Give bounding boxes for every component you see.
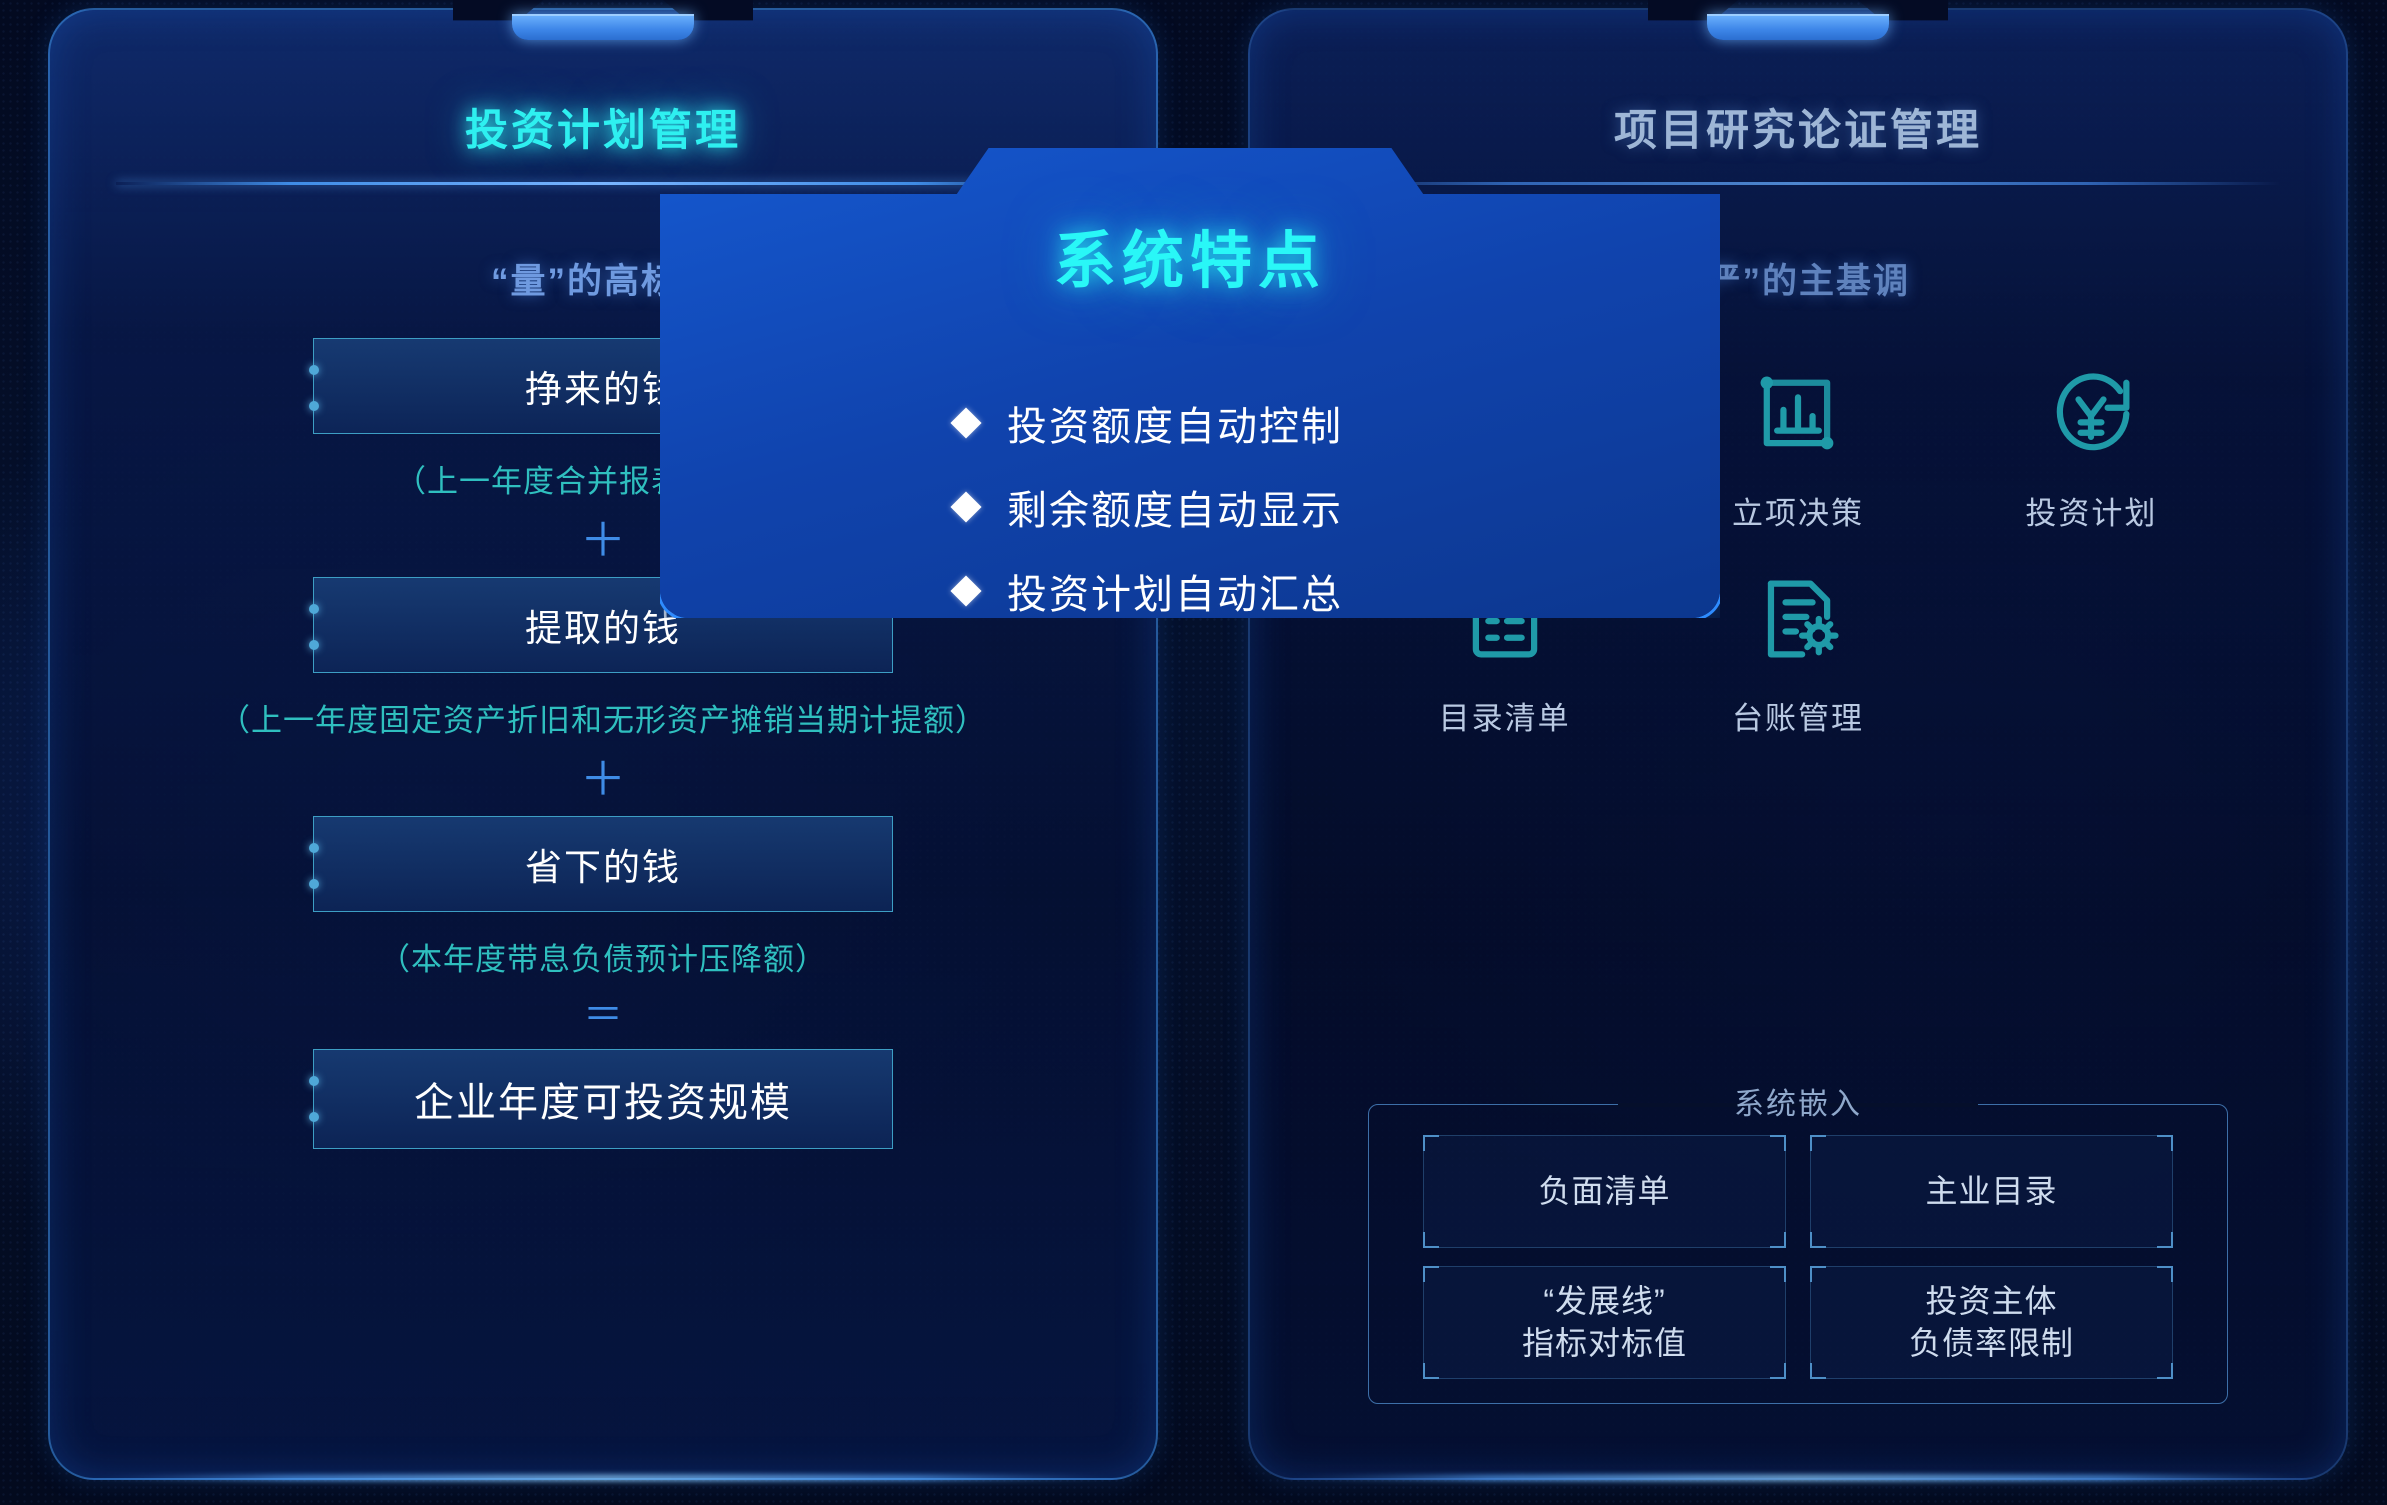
embed-item-investor-debt-ratio-limit[interactable]: 投资主体 负债率限制 — [1810, 1266, 2173, 1379]
corner-bracket-icon — [1423, 1266, 1439, 1282]
module-item-investment-plan[interactable]: 投资计划 — [1971, 362, 2211, 533]
formula-box-result[interactable]: 企业年度可投资规模 — [313, 1049, 893, 1149]
corner-bracket-icon — [1770, 1232, 1786, 1248]
embed-item-negative-list[interactable]: 负面清单 — [1423, 1135, 1786, 1248]
formula-box-saved[interactable]: 省下的钱 — [313, 816, 893, 912]
corner-bracket-icon — [1423, 1232, 1439, 1248]
corner-bracket-icon — [2157, 1232, 2173, 1248]
corner-bracket-icon — [1810, 1232, 1826, 1248]
embed-item-main-business-catalog[interactable]: 主业目录 — [1810, 1135, 2173, 1248]
corner-bracket-icon — [1423, 1363, 1439, 1379]
system-features-card[interactable]: 系统特点 投资额度自动控制 剩余额度自动显示 投资计划自动汇总 — [660, 148, 1720, 618]
module-item-label: 台账管理 — [1732, 693, 1864, 738]
box-dot-icon — [309, 365, 319, 375]
corner-bracket-icon — [1423, 1135, 1439, 1151]
corner-bracket-icon — [2157, 1266, 2173, 1282]
card-content: 系统特点 投资额度自动控制 剩余额度自动显示 投资计划自动汇总 — [660, 148, 1720, 618]
diamond-bullet-icon — [950, 491, 981, 522]
panel-top-handle — [512, 14, 694, 40]
box-dot-icon — [309, 640, 319, 650]
formula-box-label: 提取的钱 — [525, 598, 681, 652]
formula-caption: （上一年度固定资产折旧和无形资产摊销当期计提额） — [219, 695, 987, 740]
diamond-bullet-icon — [950, 575, 981, 606]
embed-item-development-line-benchmark[interactable]: “发展线” 指标对标值 — [1423, 1266, 1786, 1379]
corner-bracket-icon — [1810, 1266, 1826, 1282]
module-item-label: 投资计划 — [2025, 488, 2157, 533]
box-edge — [1423, 1135, 1786, 1248]
formula-operator-equals: ＝ — [583, 995, 623, 1035]
diamond-bullet-icon — [950, 407, 981, 438]
corner-bracket-icon — [1810, 1135, 1826, 1151]
formula-operator-plus: ＋ — [580, 517, 626, 563]
box-dot-icon — [309, 879, 319, 889]
module-item-label: 目录清单 — [1439, 693, 1571, 738]
fieldset-grid: 负面清单 主业目录 “发展线” 指标对标值 — [1423, 1135, 2173, 1379]
panel-top-handle — [1707, 14, 1889, 40]
box-dot-icon — [309, 1112, 319, 1122]
corner-bracket-icon — [2157, 1363, 2173, 1379]
right-panel-title: 项目研究论证管理 — [1250, 96, 2346, 158]
module-item-label: 立项决策 — [1732, 488, 1864, 533]
right-panel-divider — [1316, 182, 2280, 185]
box-dot-icon — [309, 843, 319, 853]
card-bullet-item: 投资计划自动汇总 — [955, 562, 1425, 620]
box-dot-icon — [309, 1076, 319, 1086]
card-bullet-item: 投资额度自动控制 — [955, 394, 1425, 452]
formula-box-label: 省下的钱 — [525, 837, 681, 891]
corner-bracket-icon — [1810, 1363, 1826, 1379]
fieldset-legend: 系统嵌入 — [1708, 1079, 1888, 1123]
corner-bracket-icon — [1770, 1266, 1786, 1282]
box-dot-icon — [309, 604, 319, 614]
formula-box-label: 挣来的钱 — [525, 359, 681, 413]
document-gear-icon — [1746, 567, 1850, 671]
system-embedding-fieldset: 系统嵌入 负面清单 主业目录 — [1368, 1104, 2228, 1404]
card-bullet-label: 投资额度自动控制 — [1007, 394, 1343, 452]
corner-bracket-icon — [2157, 1135, 2173, 1151]
corner-bracket-icon — [1770, 1363, 1786, 1379]
card-bullet-item: 剩余额度自动显示 — [955, 478, 1425, 536]
card-title: 系统特点 — [1054, 210, 1326, 300]
box-dot-icon — [309, 401, 319, 411]
formula-operator-plus: ＋ — [580, 756, 626, 802]
card-bullet-label: 剩余额度自动显示 — [1007, 478, 1343, 536]
yen-circle-icon — [2039, 362, 2143, 466]
card-bullet-list: 投资额度自动控制 剩余额度自动显示 投资计划自动汇总 — [660, 394, 1720, 620]
formula-caption: （本年度带息负债预计压降额） — [379, 934, 827, 979]
box-edge — [1810, 1266, 2173, 1379]
box-edge — [1810, 1135, 2173, 1248]
formula-box-label: 企业年度可投资规模 — [414, 1070, 792, 1128]
corner-bracket-icon — [1770, 1135, 1786, 1151]
card-bullet-label: 投资计划自动汇总 — [1007, 562, 1343, 620]
left-panel-divider — [116, 182, 1089, 185]
box-edge — [1423, 1266, 1786, 1379]
bar-chart-icon — [1746, 362, 1850, 466]
